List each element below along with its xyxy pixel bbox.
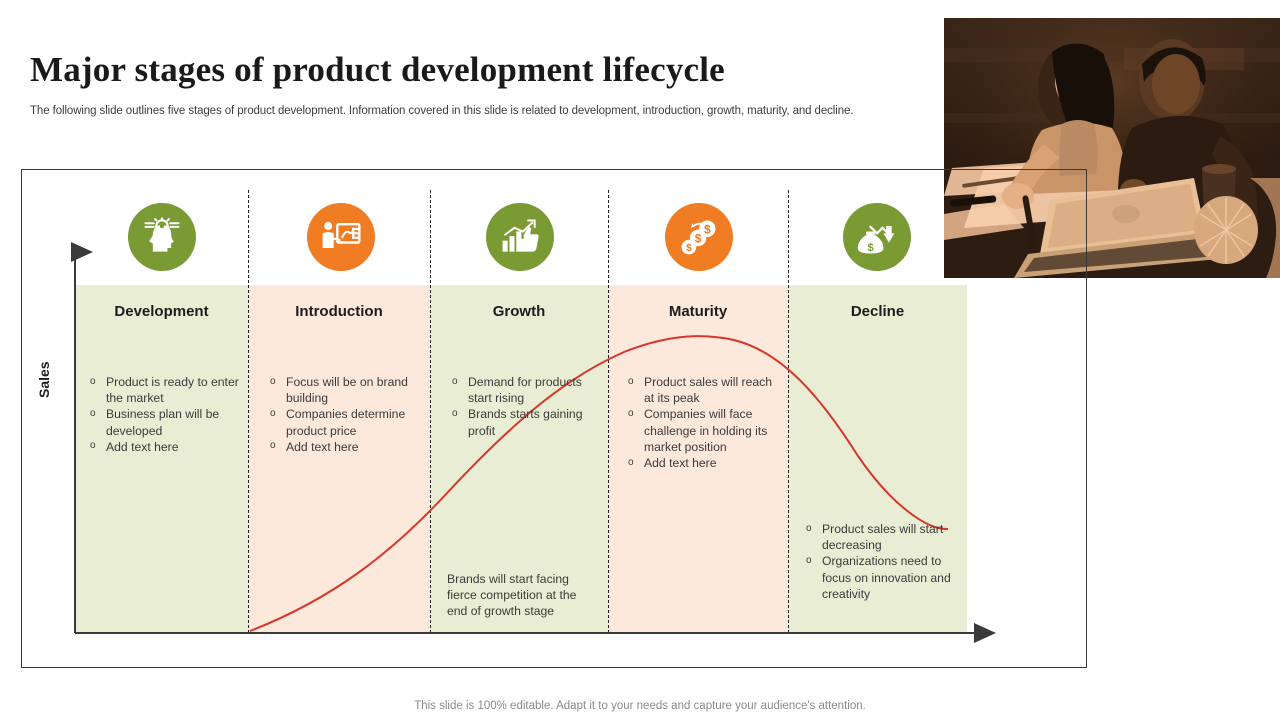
stage-icon-introduction[interactable] [307, 203, 375, 271]
svg-text:$: $ [704, 222, 711, 236]
bullets-introduction: Focus will be on brand building Companie… [270, 374, 418, 455]
list-item: Product sales will start decreasing [806, 521, 956, 553]
divider-2 [430, 190, 431, 633]
list-item: Product is ready to enter the market [90, 374, 240, 406]
head-gear-idea-icon [140, 215, 184, 259]
money-bag-down-arrow-icon: $ [855, 215, 899, 259]
stage-title-growth: Growth [430, 303, 608, 320]
bullets-decline: Product sales will start decreasing Orga… [806, 521, 956, 602]
list-item: Focus will be on brand building [270, 374, 418, 406]
list-item: Companies determine product price [270, 406, 418, 438]
stage-icon-growth[interactable] [486, 203, 554, 271]
bullets-maturity: Product sales will reach at its peak Com… [628, 374, 780, 471]
band-introduction [248, 285, 430, 633]
footer-note: This slide is 100% editable. Adapt it to… [0, 700, 1280, 712]
page-title: Major stages of product development life… [30, 50, 725, 90]
list-item: Add text here [90, 439, 240, 455]
band-development [75, 285, 248, 633]
stage-title-decline: Decline [788, 303, 967, 320]
stage-title-introduction: Introduction [248, 303, 430, 320]
y-axis-label: Sales [36, 361, 52, 398]
dollar-coins-icon: $ $ $ [677, 215, 721, 259]
stage-title-maturity: Maturity [608, 303, 788, 320]
bullets-growth: Demand for products start rising Brands … [452, 374, 602, 439]
list-item: Business plan will be developed [90, 406, 240, 438]
stage-icon-maturity[interactable]: $ $ $ [665, 203, 733, 271]
stage-title-development: Development [75, 303, 248, 320]
divider-1 [248, 190, 249, 633]
list-item: Product sales will reach at its peak [628, 374, 780, 406]
presenter-board-icon [319, 215, 363, 259]
growth-note: Brands will start facing fierce competit… [447, 571, 599, 620]
list-item: Organizations need to focus on innovatio… [806, 553, 956, 602]
bullets-development: Product is ready to enter the market Bus… [90, 374, 240, 455]
bar-chart-thumbs-up-icon [498, 215, 542, 259]
stage-icon-development[interactable] [128, 203, 196, 271]
list-item: Add text here [270, 439, 418, 455]
page-subtitle: The following slide outlines five stages… [30, 105, 853, 117]
svg-text:$: $ [868, 242, 874, 254]
svg-text:$: $ [695, 232, 702, 246]
list-item: Brands starts gaining profit [452, 406, 602, 438]
svg-text:$: $ [686, 243, 692, 254]
divider-4 [788, 190, 789, 633]
slide-root: Major stages of product development life… [0, 0, 1280, 720]
list-item: Demand for products start rising [452, 374, 602, 406]
divider-3 [608, 190, 609, 633]
stage-icon-decline[interactable]: $ [843, 203, 911, 271]
list-item: Companies will face challenge in holding… [628, 406, 780, 455]
list-item: Add text here [628, 455, 780, 471]
